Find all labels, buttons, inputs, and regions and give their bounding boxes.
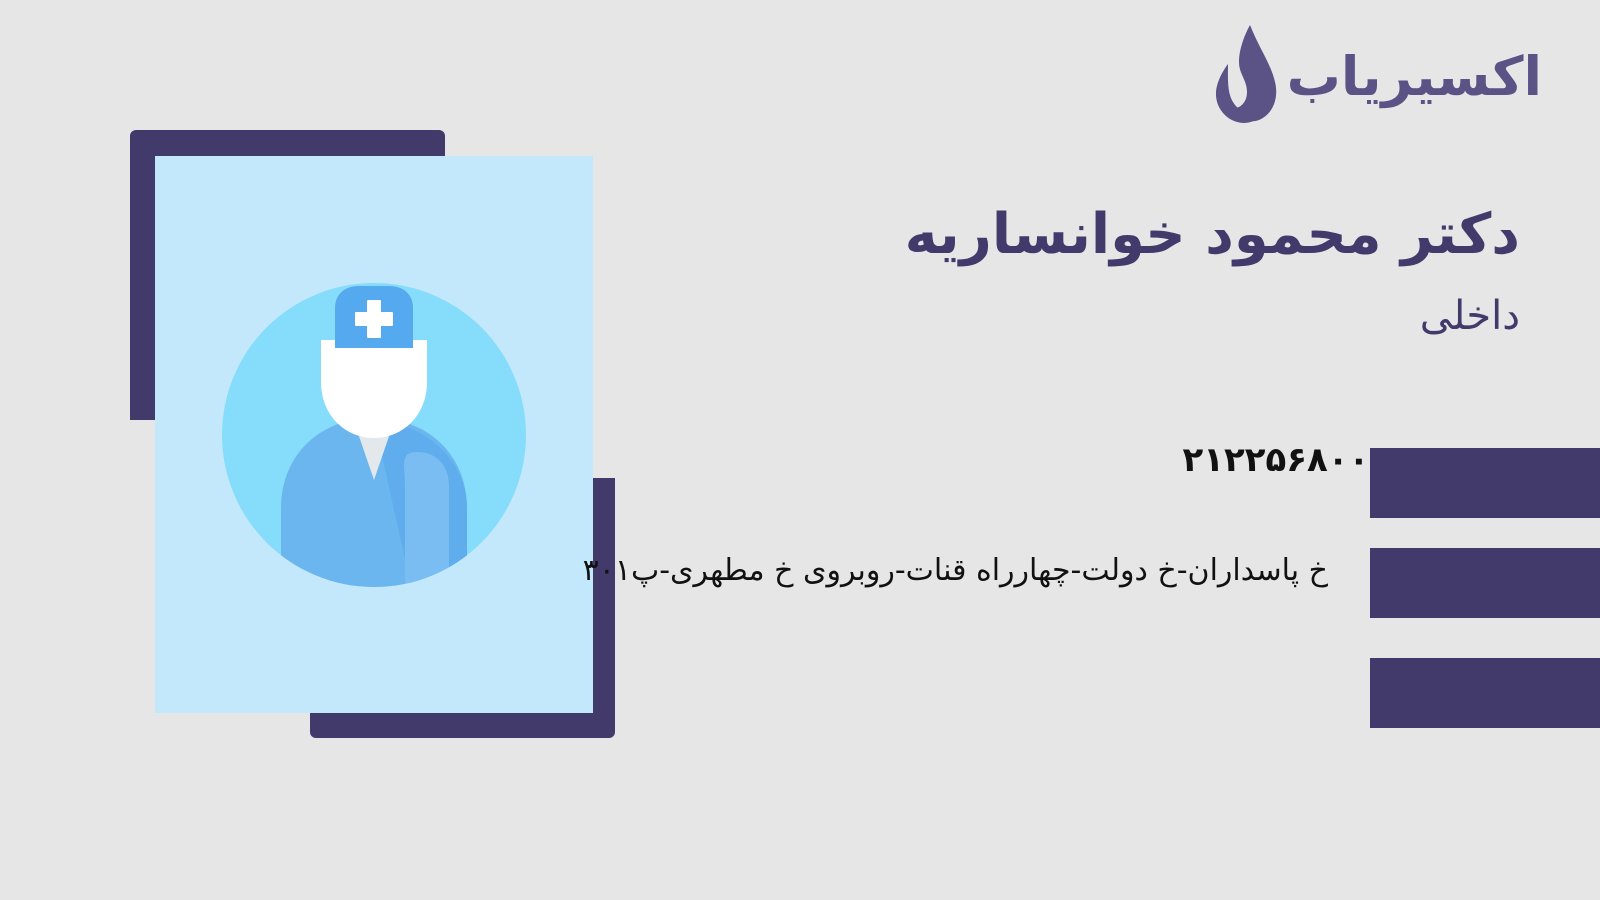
clinic-address: خ پاسداران-خ دولت-چهارراه قنات-روبروی خ … [583,553,1328,588]
doctor-profile-canvas: اکسیریاب [0,0,1600,900]
decor-bar-1 [1370,448,1600,518]
phone-number[interactable]: ۲۱۲۲۵۶۸۰۰۱ [1182,440,1390,480]
photo-card [155,156,593,713]
doctor-info-block: دکتر محمود خوانساریه داخلی [660,200,1520,340]
flame-icon [1203,22,1281,132]
doctor-avatar-icon [209,270,539,600]
page-title: دکتر محمود خوانساریه [660,200,1520,270]
doctor-illustration [130,130,620,745]
decor-bar-2 [1370,548,1600,618]
decor-bar-3 [1370,658,1600,728]
brand-wordmark: اکسیریاب [1287,50,1542,104]
brand-logo[interactable]: اکسیریاب [1203,22,1542,132]
doctor-specialty: داخلی [660,292,1520,340]
